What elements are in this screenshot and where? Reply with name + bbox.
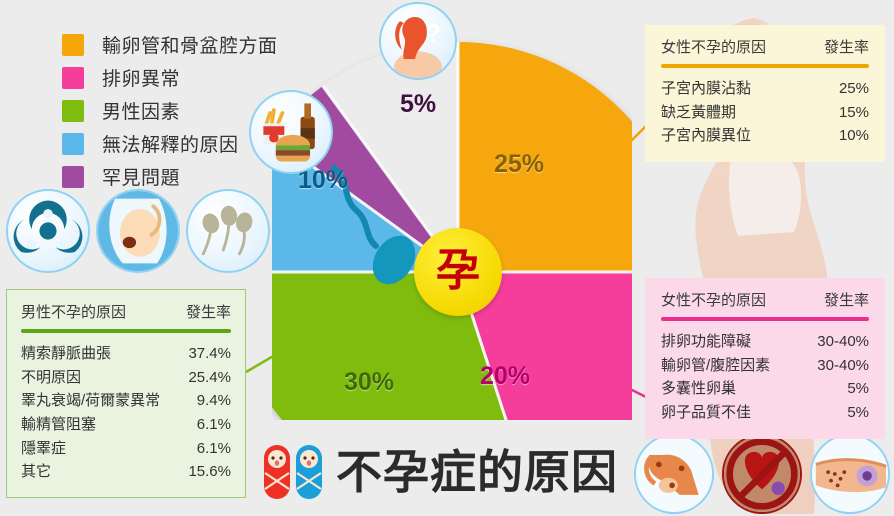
uterus-ovary-icon[interactable] xyxy=(634,434,714,514)
cell-rate: 30-40% xyxy=(817,354,869,378)
table-row: 子宮內膜異位 10% xyxy=(661,124,869,148)
col-header-rate: 發生率 xyxy=(186,301,231,322)
col-header-cause: 男性不孕的原因 xyxy=(21,301,126,322)
main-title: 不孕症的原因 xyxy=(262,443,618,501)
table-rule xyxy=(21,329,231,333)
table-header: 女性不孕的原因 發生率 xyxy=(661,36,869,57)
sperm-icon[interactable] xyxy=(186,189,270,273)
cell-cause: 睪丸衰竭/荷爾蒙異常 xyxy=(21,389,160,413)
legend-label-0: 輸卵管和骨盆腔方面 xyxy=(102,31,278,58)
ovum-tissue-glyph xyxy=(812,434,888,514)
cell-cause: 缺乏黃體期 xyxy=(661,101,736,125)
blocked-uterus-icon[interactable] xyxy=(722,434,802,514)
cell-rate: 6.1% xyxy=(197,437,231,461)
legend-item-0[interactable]: 輸卵管和骨盆腔方面 xyxy=(62,28,278,61)
table-row: 睪丸衰竭/荷爾蒙異常 9.4% xyxy=(21,389,231,413)
legend-swatch-0 xyxy=(62,34,84,56)
junk-food-alcohol-icon[interactable] xyxy=(249,90,333,174)
svg-text:?: ? xyxy=(426,21,441,48)
table-row: 其它 15.6% xyxy=(21,460,231,484)
cell-cause: 卵子品質不佳 xyxy=(661,401,751,425)
table-row: 子宮內膜沾黏 25% xyxy=(661,77,869,101)
legend-item-3[interactable]: 無法解釋的原因 xyxy=(62,127,278,160)
cell-cause: 排卵功能障礙 xyxy=(661,330,751,354)
legend-label-3: 無法解釋的原因 xyxy=(102,130,239,157)
cell-cause: 輸卵管/腹腔因素 xyxy=(661,354,770,378)
table-female-causes-top[interactable]: 女性不孕的原因 發生率 子宮內膜沾黏 25% 缺乏黃體期 15% 子宮內膜異位 … xyxy=(645,25,885,162)
legend-label-2: 男性因素 xyxy=(102,97,180,124)
table-female-causes-bottom[interactable]: 女性不孕的原因 發生率 排卵功能障礙 30-40% 輸卵管/腹腔因素 30-40… xyxy=(645,278,885,439)
cell-cause: 隱睪症 xyxy=(21,437,66,461)
legend-swatch-4 xyxy=(62,166,84,188)
cell-rate: 30-40% xyxy=(817,330,869,354)
legend-item-1[interactable]: 排卵異常 xyxy=(62,61,278,94)
table-row: 精索靜脈曲張 37.4% xyxy=(21,342,231,366)
cell-cause: 其它 xyxy=(21,460,51,484)
pie-chart-svg xyxy=(272,20,632,420)
col-header-rate: 發生率 xyxy=(824,289,869,310)
pie-center-hub: 孕 xyxy=(414,228,502,316)
table-row: 卵子品質不佳 5% xyxy=(661,401,869,425)
legend: 輸卵管和骨盆腔方面 排卵異常 男性因素 無法解釋的原因 罕見問題 xyxy=(62,28,278,193)
cell-rate: 25% xyxy=(839,77,869,101)
cell-cause: 多囊性卵巢 xyxy=(661,377,736,401)
cell-rate: 9.4% xyxy=(197,389,231,413)
sperm-glyph xyxy=(188,189,268,273)
cell-rate: 15% xyxy=(839,101,869,125)
baby-blue-icon xyxy=(296,445,322,499)
ovum-tissue-icon[interactable] xyxy=(810,434,890,514)
table-rule xyxy=(661,64,869,68)
table-row: 隱睪症 6.1% xyxy=(21,437,231,461)
legend-item-2[interactable]: 男性因素 xyxy=(62,94,278,127)
pregnancy-char: 孕 xyxy=(436,249,480,293)
pie-chart[interactable]: 25% 20% 30% 10% 5% xyxy=(272,20,632,420)
cell-cause: 子宮內膜沾黏 xyxy=(661,77,751,101)
biohazard-glyph xyxy=(8,189,88,273)
blocked-uterus-glyph xyxy=(724,434,800,514)
legend-swatch-3 xyxy=(62,133,84,155)
cell-rate: 15.6% xyxy=(188,460,231,484)
cell-rate: 10% xyxy=(839,124,869,148)
table-rule xyxy=(661,317,869,321)
table-row: 不明原因 25.4% xyxy=(21,366,231,390)
cell-cause: 不明原因 xyxy=(21,366,81,390)
uterus-ovary-glyph xyxy=(636,434,712,514)
testicle-anatomy-glyph xyxy=(98,189,178,273)
col-header-cause: 女性不孕的原因 xyxy=(661,36,766,57)
cell-cause: 精索靜脈曲張 xyxy=(21,342,111,366)
legend-label-4: 罕見問題 xyxy=(102,163,180,190)
legend-item-4[interactable]: 罕見問題 xyxy=(62,160,278,193)
table-row: 排卵功能障礙 30-40% xyxy=(661,330,869,354)
cell-cause: 子宮內膜異位 xyxy=(661,124,751,148)
table-row: 輸卵管/腹腔因素 30-40% xyxy=(661,354,869,378)
legend-swatch-2 xyxy=(62,100,84,122)
table-male-causes[interactable]: 男性不孕的原因 發生率 精索靜脈曲張 37.4% 不明原因 25.4% 睪丸衰竭… xyxy=(6,289,246,498)
main-title-text: 不孕症的原因 xyxy=(336,449,618,495)
table-row: 輸精管阻塞 6.1% xyxy=(21,413,231,437)
biohazard-icon[interactable] xyxy=(6,189,90,273)
cell-rate: 37.4% xyxy=(188,342,231,366)
testicle-anatomy-icon[interactable] xyxy=(96,189,180,273)
table-row: 多囊性卵巢 5% xyxy=(661,377,869,401)
legend-swatch-1 xyxy=(62,67,84,89)
woman-question-icon[interactable]: ? xyxy=(379,2,457,80)
junk-food-alcohol-glyph xyxy=(251,90,331,174)
cell-rate: 5% xyxy=(847,377,869,401)
baby-pair-icon xyxy=(262,443,324,501)
cell-cause: 輸精管阻塞 xyxy=(21,413,96,437)
col-header-rate: 發生率 xyxy=(824,36,869,57)
table-row: 缺乏黃體期 15% xyxy=(661,101,869,125)
woman-question-glyph: ? xyxy=(381,2,455,80)
legend-label-1: 排卵異常 xyxy=(102,64,180,91)
table-header: 女性不孕的原因 發生率 xyxy=(661,289,869,310)
infographic-canvas: 輸卵管和骨盆腔方面 排卵異常 男性因素 無法解釋的原因 罕見問題 xyxy=(0,0,894,516)
cell-rate: 6.1% xyxy=(197,413,231,437)
cell-rate: 25.4% xyxy=(188,366,231,390)
table-header: 男性不孕的原因 發生率 xyxy=(21,301,231,322)
col-header-cause: 女性不孕的原因 xyxy=(661,289,766,310)
cell-rate: 5% xyxy=(847,401,869,425)
baby-red-icon xyxy=(264,445,290,499)
